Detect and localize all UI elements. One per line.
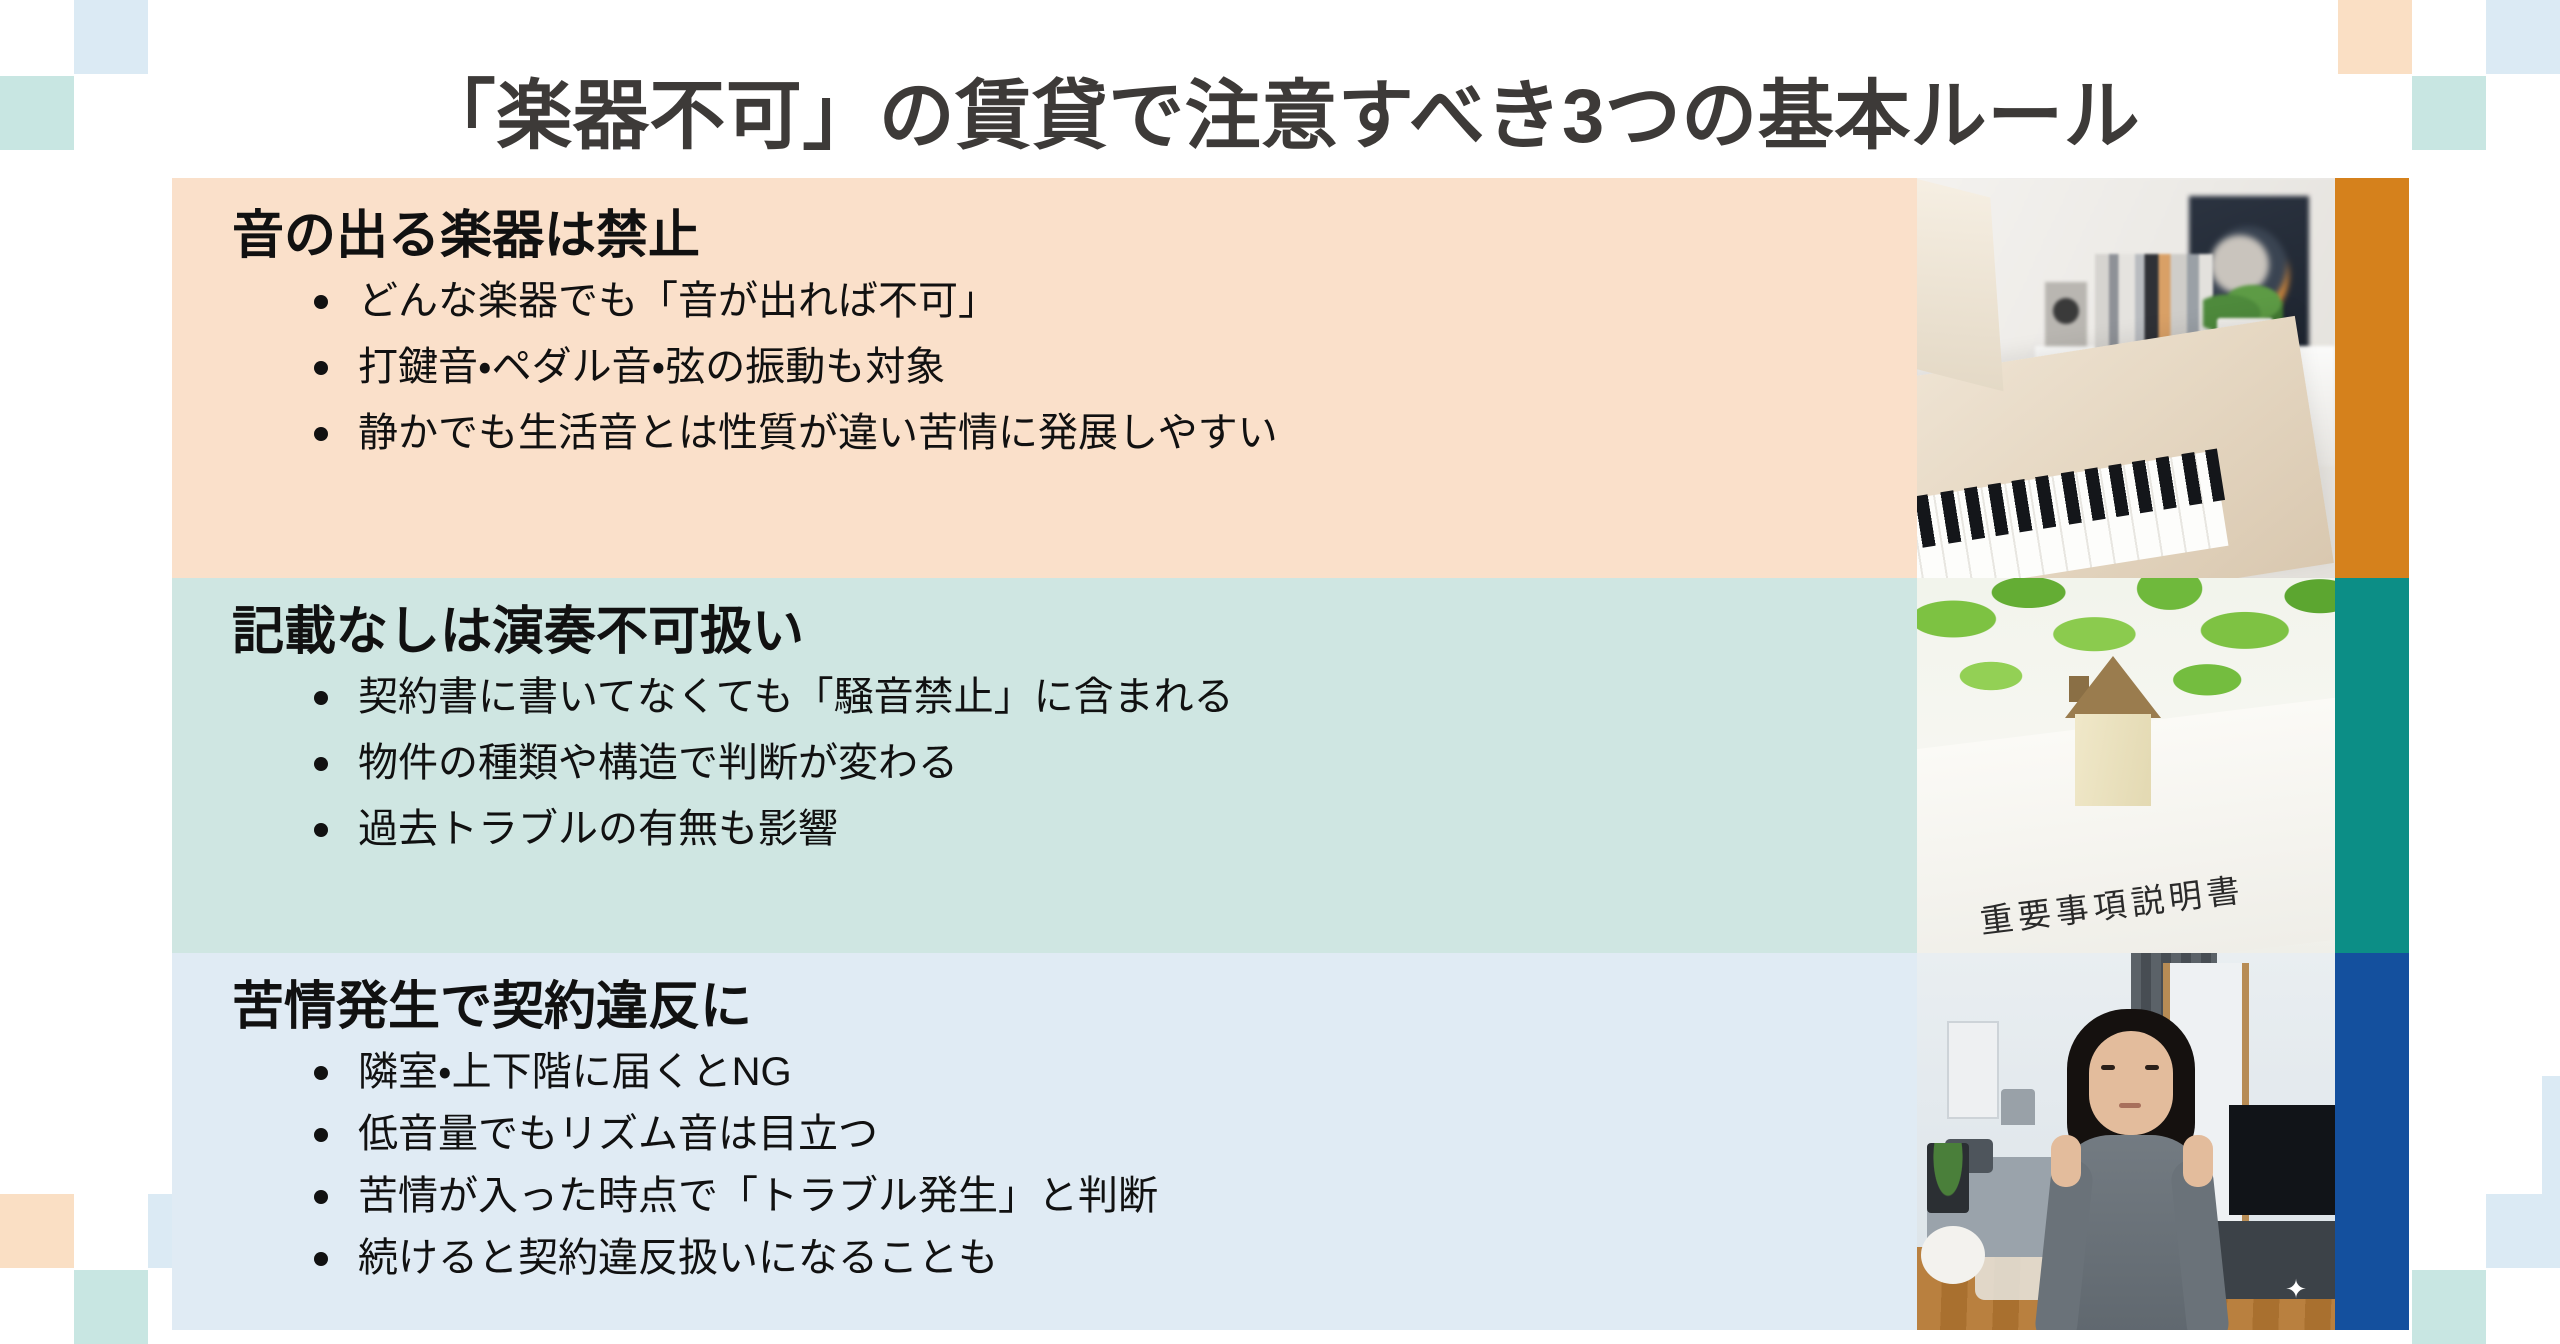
decor-square-bottom-right-teal — [2412, 1270, 2486, 1344]
woman-photo: ✦ — [1917, 953, 2335, 1330]
card-3-bullet-2: 低音量でもリズム音は目立つ — [312, 1114, 1871, 1154]
card-rule-2: 記載なしは演奏不可扱い 契約書に書いてなくても「騒音禁止」に含まれる 物件の種類… — [172, 578, 2409, 953]
woman-photo-wall-art — [1947, 1021, 1999, 1119]
card-3-bullet-4: 続けると契約違反扱いになることも — [312, 1238, 1871, 1278]
person-hand-left-crossed-fingers — [2051, 1135, 2081, 1187]
card-1-media — [1917, 178, 2409, 578]
card-1-heading: 音の出る楽器は禁止 — [232, 204, 1871, 269]
card-list: 音の出る楽器は禁止 どんな楽器でも「音が出れば不可」 打鍵音・ペダル音・弦の振動… — [172, 178, 2409, 1330]
card-3-accent-bar — [2335, 953, 2409, 1330]
piano-photo-speaker — [2045, 282, 2087, 346]
person-hand-right-crossed-fingers — [2183, 1135, 2213, 1187]
card-rule-1: 音の出る楽器は禁止 どんな楽器でも「音が出れば不可」 打鍵音・ペダル音・弦の振動… — [172, 178, 2409, 578]
decor-square-bottom-left-teal — [74, 1270, 148, 1344]
piano-photo-music-stand — [1917, 178, 2004, 391]
card-1-bullet-list: どんな楽器でも「音が出れば不可」 打鍵音・ペダル音・弦の振動も対象 静かでも生活… — [232, 281, 1871, 479]
card-3-heading: 苦情発生で契約違反に — [232, 975, 1871, 1040]
card-3-bullet-list: 隣室・上下階に届くとNG 低音量でもリズム音は目立つ 苦情が入った時点で「トラブ… — [232, 1052, 1871, 1300]
card-2-bullet-list: 契約書に書いてなくても「騒音禁止」に含まれる 物件の種類や構造で判断が変わる 過… — [232, 677, 1871, 875]
decor-square-bottom-left-peach — [0, 1194, 74, 1268]
decor-square-top-right-blue — [2486, 0, 2560, 74]
woman-photo-person — [2037, 1009, 2227, 1330]
decor-square-bottom-right-blue — [2486, 1194, 2560, 1268]
woman-photo-television — [2229, 1105, 2335, 1215]
slide-title: 「楽器不可」の賃貸で注意すべき3つの基本ルール — [0, 73, 2560, 160]
house-model-roof — [2065, 656, 2161, 718]
card-1-accent-bar — [2335, 178, 2409, 578]
decor-edge-bar-right — [2542, 1076, 2560, 1196]
decor-square-top-left-blue — [74, 0, 148, 74]
woman-photo-lamp — [2001, 1089, 2035, 1125]
person-eye-right — [2145, 1065, 2159, 1070]
card-3-bullet-3: 苦情が入った時点で「トラブル発生」と判断 — [312, 1176, 1871, 1216]
person-eye-left — [2101, 1065, 2115, 1070]
woman-photo-pouf — [1921, 1226, 1985, 1284]
house-model-wall — [2075, 714, 2151, 806]
person-mouth — [2119, 1103, 2141, 1108]
woman-photo-tv-stand — [2215, 1221, 2335, 1299]
card-1-text: 音の出る楽器は禁止 どんな楽器でも「音が出れば不可」 打鍵音・ペダル音・弦の振動… — [172, 178, 1917, 578]
card-2-bullet-1: 契約書に書いてなくても「騒音禁止」に含まれる — [312, 677, 1871, 717]
decor-square-top-right-peach — [2338, 0, 2412, 74]
card-2-bullet-2: 物件の種類や構造で判断が変わる — [312, 743, 1871, 783]
woman-photo-potted-plant — [1927, 1143, 1969, 1213]
card-2-heading: 記載なしは演奏不可扱い — [232, 600, 1871, 665]
card-2-accent-bar — [2335, 578, 2409, 953]
card-rule-3: 苦情発生で契約違反に 隣室・上下階に届くとNG 低音量でもリズム音は目立つ 苦情… — [172, 953, 2409, 1330]
person-face — [2089, 1031, 2173, 1135]
piano-photo — [1917, 178, 2335, 578]
card-3-media: ✦ — [1917, 953, 2409, 1330]
card-1-bullet-2: 打鍵音・ペダル音・弦の振動も対象 — [312, 347, 1871, 387]
card-3-bullet-1: 隣室・上下階に届くとNG — [312, 1052, 1871, 1092]
card-1-bullet-1: どんな楽器でも「音が出れば不可」 — [312, 281, 1871, 321]
card-1-bullet-3: 静かでも生活音とは性質が違い苦情に発展しやすい — [312, 413, 1871, 453]
card-2-text: 記載なしは演奏不可扱い 契約書に書いてなくても「騒音禁止」に含まれる 物件の種類… — [172, 578, 1917, 953]
sparkle-icon: ✦ — [2283, 1276, 2309, 1302]
card-3-text: 苦情発生で契約違反に 隣室・上下階に届くとNG 低音量でもリズム音は目立つ 苦情… — [172, 953, 1917, 1330]
card-2-media: 重要事項説明書 — [1917, 578, 2409, 953]
card-2-bullet-3: 過去トラブルの有無も影響 — [312, 809, 1871, 849]
document-photo: 重要事項説明書 — [1917, 578, 2335, 953]
document-photo-house-model — [2065, 656, 2161, 806]
